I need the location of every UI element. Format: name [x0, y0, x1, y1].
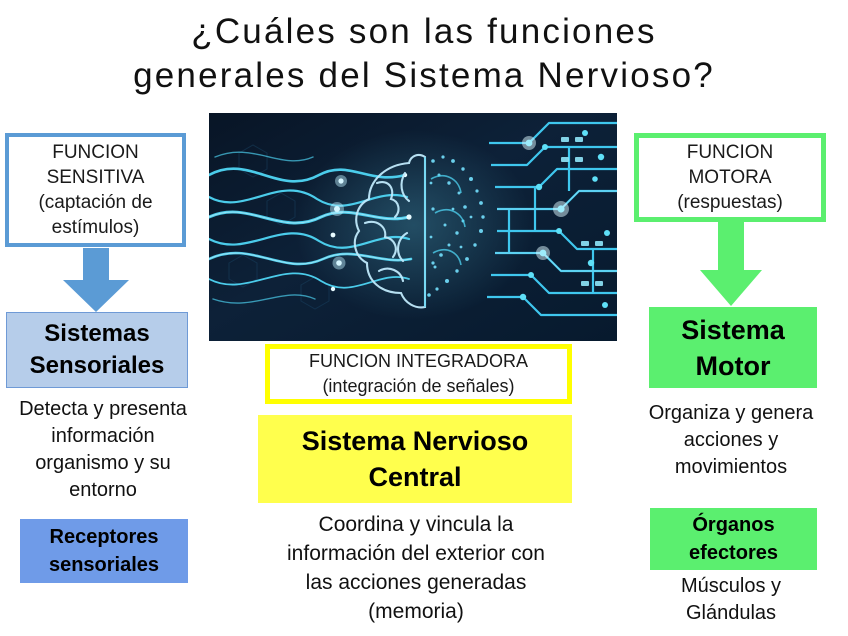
motor-description: Organiza y genera acciones y movimientos [614, 400, 848, 481]
motor-description-line-3: movimientos [614, 454, 848, 481]
sensory-description-line-2: información [0, 423, 206, 450]
motor-system-line-1: Sistema [681, 312, 785, 348]
effector-organs-detail: Músculos y Glándulas [614, 573, 848, 627]
sensory-header-line-1: FUNCION [52, 140, 139, 165]
sensory-header-line-3: (captación de [38, 190, 152, 215]
effector-organs-detail-line-1: Músculos y [614, 573, 848, 600]
sensory-systems-line-1: Sistemas [44, 318, 149, 350]
down-arrow-green-icon [696, 222, 766, 308]
sensory-function-header-box: FUNCION SENSITIVA (captación de estímulo… [5, 133, 186, 247]
motor-header-line-3: (respuestas) [677, 190, 783, 215]
integrative-header-line-1: FUNCION INTEGRADORA [309, 349, 528, 374]
motor-description-line-2: acciones y [614, 427, 848, 454]
central-nervous-system-line-2: Central [368, 459, 461, 495]
central-nervous-system-box: Sistema Nervioso Central [258, 415, 572, 503]
sensory-receptors-line-2: sensoriales [49, 551, 159, 579]
page-title-line-1: ¿Cuáles son las funciones [0, 10, 848, 54]
effector-organs-line-2: efectores [689, 539, 778, 567]
integrative-function-header-box: FUNCION INTEGRADORA (integración de seña… [265, 344, 572, 404]
integrative-description-line-1: Coordina y vincula la [238, 510, 594, 539]
integrative-description-line-3: las acciones generadas [238, 568, 594, 597]
motor-header-line-2: MOTORA [688, 165, 771, 190]
motor-header-line-1: FUNCION [687, 140, 774, 165]
integrative-description: Coordina y vincula la información del ex… [238, 510, 594, 626]
integrative-header-line-2: (integración de señales) [322, 374, 514, 399]
effector-organs-box: Órganos efectores [650, 508, 817, 570]
motor-system-line-2: Motor [696, 348, 771, 384]
sensory-description-line-4: entorno [0, 477, 206, 504]
brain-circuit-image [209, 113, 617, 341]
sensory-receptors-line-1: Receptores [50, 523, 159, 551]
integrative-description-line-2: información del exterior con [238, 539, 594, 568]
page-title: ¿Cuáles son las funciones generales del … [0, 10, 848, 98]
central-nervous-system-line-1: Sistema Nervioso [302, 423, 529, 459]
sensory-header-line-2: SENSITIVA [47, 165, 145, 190]
sensory-systems-box: Sistemas Sensoriales [6, 312, 188, 388]
sensory-systems-line-2: Sensoriales [30, 350, 165, 382]
integrative-description-line-4: (memoria) [238, 597, 594, 626]
sensory-description-line-3: organismo y su [0, 450, 206, 477]
sensory-description-line-1: Detecta y presenta [0, 396, 206, 423]
sensory-header-line-4: estímulos) [52, 215, 140, 240]
motor-description-line-1: Organiza y genera [614, 400, 848, 427]
motor-function-header-box: FUNCION MOTORA (respuestas) [634, 133, 826, 222]
motor-system-box: Sistema Motor [649, 307, 817, 388]
down-arrow-blue-icon [59, 248, 133, 314]
effector-organs-line-1: Órganos [692, 511, 774, 539]
sensory-description: Detecta y presenta información organismo… [0, 396, 206, 504]
sensory-receptors-box: Receptores sensoriales [20, 519, 188, 583]
effector-organs-detail-line-2: Glándulas [614, 600, 848, 627]
slide-canvas: ¿Cuáles son las funciones generales del … [0, 0, 848, 636]
page-title-line-2: generales del Sistema Nervioso? [0, 54, 848, 98]
